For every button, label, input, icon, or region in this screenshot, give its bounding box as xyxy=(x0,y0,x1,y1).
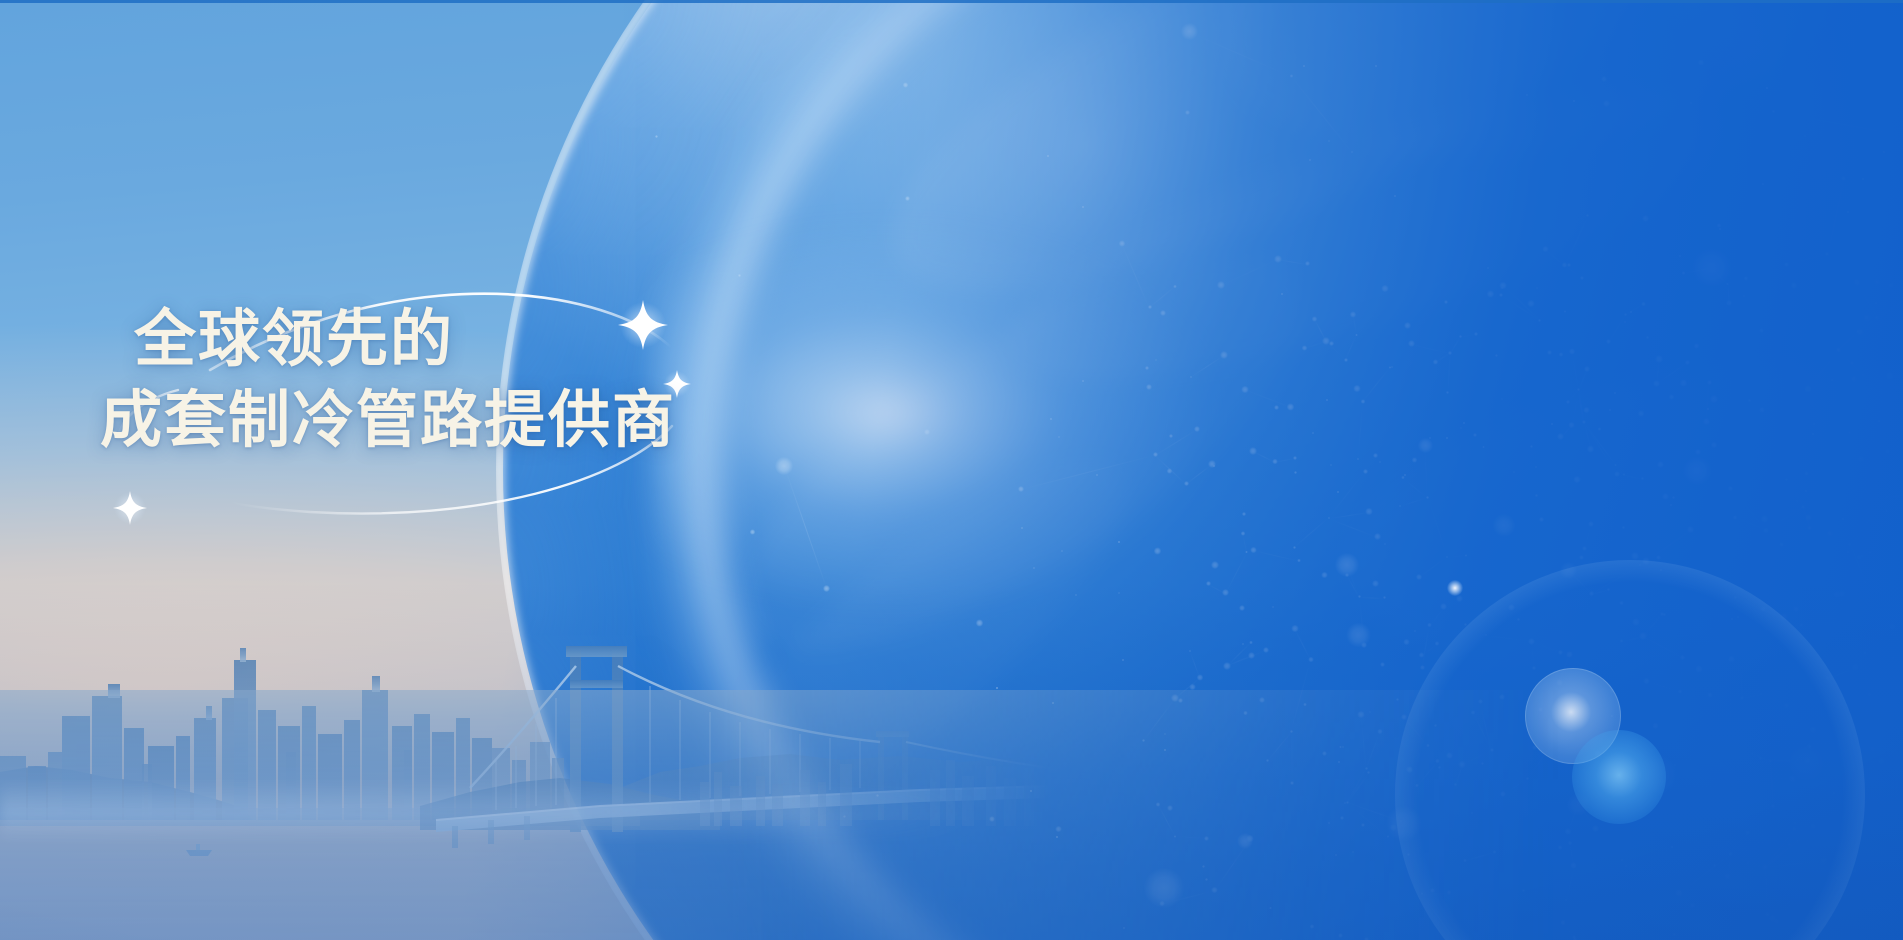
hero-banner: 全球领先的 成套制冷管路提供商 xyxy=(0,0,1903,940)
vignette xyxy=(0,0,1903,940)
top-rule xyxy=(0,0,1903,3)
